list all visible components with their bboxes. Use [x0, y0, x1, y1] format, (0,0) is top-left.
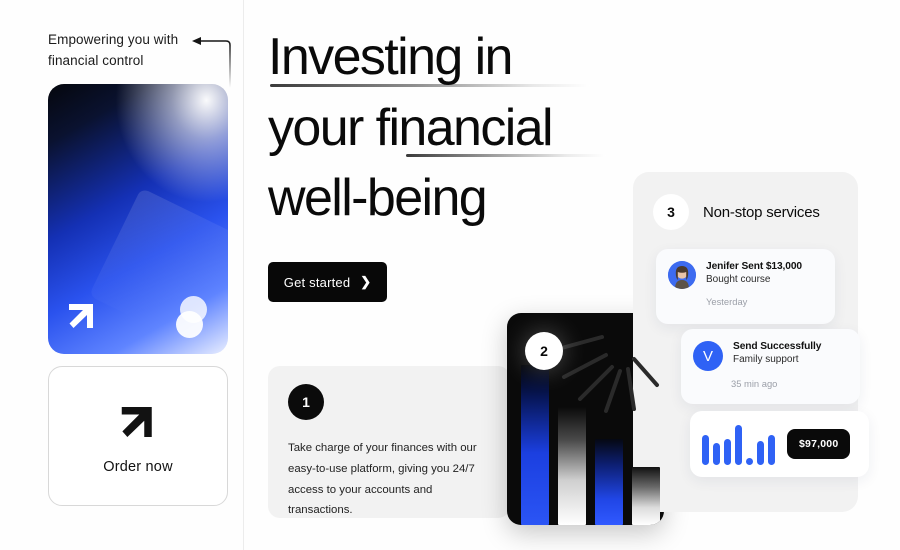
notification-time: Yesterday [656, 289, 835, 307]
notification-item[interactable]: Jenifer Sent $13,000 Bought course Yeste… [656, 249, 835, 324]
page-title: Investing in your financial well-being [268, 22, 628, 234]
bar-1 [702, 435, 709, 465]
bar-5 [746, 458, 753, 465]
notification-title: Send Successfully [733, 341, 821, 352]
step-2-badge: 2 [525, 332, 563, 370]
dual-circle-payment-icon [174, 296, 214, 340]
headline-line-3: well-being [268, 163, 628, 234]
user-photo-avatar [668, 261, 696, 289]
order-now-card[interactable]: Order now [48, 366, 228, 506]
arrow-left-elbow-icon [190, 28, 238, 90]
headline-line-1: Investing in [268, 22, 628, 93]
amount-badge: $97,000 [787, 429, 850, 459]
notification-item[interactable]: V Send Successfully Family support 35 mi… [681, 329, 860, 404]
notification-subtitle: Bought course [706, 274, 802, 285]
bar-4 [735, 425, 742, 465]
notification-subtitle: Family support [733, 354, 821, 365]
bar-2 [713, 443, 720, 465]
brand-arrow-logo-icon [62, 296, 102, 336]
bar-7 [768, 435, 775, 465]
sunburst-rays-icon [554, 319, 664, 429]
step-1-card: 1 Take charge of your finances with our … [268, 366, 510, 518]
bar-3 [724, 439, 731, 465]
step-3-badge: 3 [653, 194, 689, 230]
bar-6 [757, 441, 764, 465]
notification-time: 35 min ago [681, 371, 860, 389]
step-1-badge: 1 [288, 384, 324, 420]
landing-hero: Empowering you with financial control Or… [0, 0, 900, 550]
step-2-card: 2 [507, 313, 664, 525]
get-started-button[interactable]: Get started ❯ [268, 262, 387, 302]
kicker-text: Empowering you with financial control [48, 30, 208, 72]
services-panel-header: 3 Non-stop services [633, 172, 858, 230]
bar-chart [702, 423, 775, 465]
letter-avatar-v: V [693, 341, 723, 371]
step-1-body: Take charge of your finances with our ea… [288, 438, 490, 521]
headline-line-2: your financial [268, 93, 628, 164]
balance-chart-card: $97,000 [690, 411, 869, 477]
brand-arrow-logo-icon [113, 397, 163, 447]
services-panel-title: Non-stop services [703, 204, 820, 221]
order-now-label: Order now [103, 459, 173, 475]
get-started-label: Get started [284, 275, 351, 290]
chevron-right-icon: ❯ [360, 274, 371, 290]
vertical-divider [243, 0, 244, 550]
credit-card-visual [48, 84, 228, 354]
notification-title: Jenifer Sent $13,000 [706, 261, 802, 272]
